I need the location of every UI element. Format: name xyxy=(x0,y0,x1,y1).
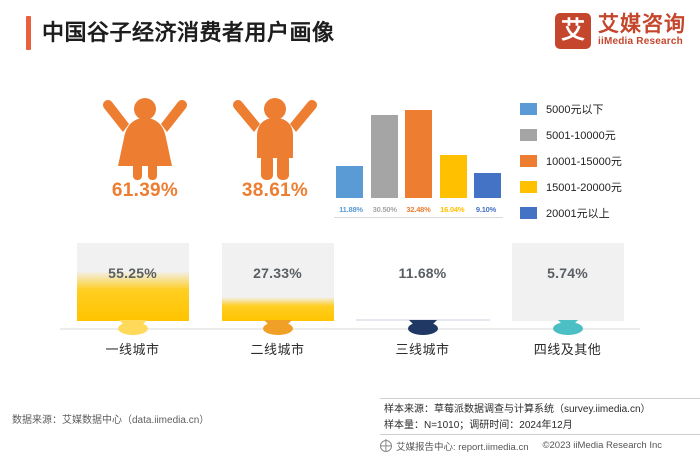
income-bar-value: 11.88% xyxy=(336,205,366,214)
legend-label: 15001-20000元 xyxy=(546,179,622,195)
city-label: 三线城市 xyxy=(350,339,495,358)
legend-swatch xyxy=(520,155,537,167)
female-percentage: 61.39% xyxy=(85,180,205,202)
income-bar-column xyxy=(405,110,432,198)
income-bar-value: 32.48% xyxy=(404,205,434,214)
legend-swatch xyxy=(520,129,537,141)
footer-sample-info: 样本来源：草莓派数据调查与计算系统（survey.iimedia.cn） 样本量… xyxy=(384,402,651,434)
footer-report-center: 艾媒报告中心: report.iimedia.cn xyxy=(396,439,529,453)
city-beaker xyxy=(222,243,334,321)
legend-label: 10001-15000元 xyxy=(546,153,622,169)
header: 中国谷子经济消费者用户画像 艾 艾媒咨询 iiMedia Research xyxy=(0,0,700,66)
legend-swatch xyxy=(520,181,537,193)
legend-swatch xyxy=(520,103,537,115)
city-label: 二线城市 xyxy=(205,339,350,358)
income-bars xyxy=(336,110,501,198)
legend-item: 10001-15000元 xyxy=(520,148,690,174)
income-legend: 5000元以下 5001-10000元 10001-15000元 15001-2… xyxy=(520,96,690,226)
city-drop-icon xyxy=(553,322,583,335)
income-bar-chart: 11.88% 30.50% 32.48% 16.04% 9.10% xyxy=(336,100,501,218)
income-bar-value: 30.50% xyxy=(370,205,400,214)
city-drop-icon xyxy=(263,322,293,335)
city-tier-chart: 55.25% 一线城市 27.33% 二线城市 11.68% 三线城市 5.74… xyxy=(60,243,640,358)
female-figure-icon xyxy=(85,92,205,180)
city-percentage: 5.74% xyxy=(495,265,640,281)
footer-copyright: ©2023 iiMedia Research Inc xyxy=(543,440,662,451)
income-bar xyxy=(440,155,467,198)
income-bar-column xyxy=(474,110,501,198)
city-item: 27.33% 二线城市 xyxy=(205,243,350,358)
income-bar-column xyxy=(371,110,398,198)
page-title: 中国谷子经济消费者用户画像 xyxy=(42,16,335,50)
logo-name-cn: 艾媒咨询 xyxy=(598,14,686,36)
legend-swatch xyxy=(520,207,537,219)
income-bar xyxy=(371,115,398,198)
logo-name-en: iiMedia Research xyxy=(598,36,686,48)
gender-distribution-chart: 61.39% 38.61% xyxy=(60,92,330,222)
city-percentage: 55.25% xyxy=(60,265,205,281)
footer-report-bar: 艾媒报告中心: report.iimedia.cn ©2023 iiMedia … xyxy=(380,434,700,456)
legend-item: 15001-20000元 xyxy=(520,174,690,200)
footer-data-source: 数据来源：艾媒数据中心（data.iimedia.cn） xyxy=(12,411,209,426)
legend-label: 20001元以上 xyxy=(546,205,610,221)
city-drop-icon xyxy=(408,322,438,335)
footer-sample-source: 样本来源：草莓派数据调查与计算系统（survey.iimedia.cn） xyxy=(384,402,651,418)
logo-mark-icon: 艾 xyxy=(555,13,591,49)
legend-item: 5001-10000元 xyxy=(520,122,690,148)
footer-divider xyxy=(380,398,700,399)
male-figure-icon xyxy=(215,92,335,180)
income-bar xyxy=(474,173,501,198)
city-label: 四线及其他 xyxy=(495,339,640,358)
legend-label: 5000元以下 xyxy=(546,101,603,117)
city-percentage: 27.33% xyxy=(205,265,350,281)
city-beaker-fill xyxy=(222,297,334,322)
legend-label: 5001-10000元 xyxy=(546,127,616,143)
income-bar xyxy=(405,110,432,198)
income-bar-column xyxy=(440,110,467,198)
income-bar xyxy=(336,166,363,198)
footer-sample-size: 样本量：N=1010；调研时间：2024年12月 xyxy=(384,418,651,434)
legend-item: 20001元以上 xyxy=(520,200,690,226)
city-item: 11.68% 三线城市 xyxy=(350,243,495,358)
city-beaker xyxy=(512,243,624,321)
city-item: 5.74% 四线及其他 xyxy=(495,243,640,358)
male-percentage: 38.61% xyxy=(215,180,335,202)
title-accent-bar xyxy=(26,16,31,50)
legend-item: 5000元以下 xyxy=(520,96,690,122)
brand-logo: 艾 艾媒咨询 iiMedia Research xyxy=(555,13,686,49)
chart-baseline xyxy=(334,217,503,218)
gender-item-male: 38.61% xyxy=(215,92,335,202)
globe-icon xyxy=(380,440,392,452)
income-bar-value: 16.04% xyxy=(437,205,467,214)
income-bar-labels: 11.88% 30.50% 32.48% 16.04% 9.10% xyxy=(336,205,501,214)
city-item: 55.25% 一线城市 xyxy=(60,243,205,358)
city-label: 一线城市 xyxy=(60,339,205,358)
city-drop-icon xyxy=(118,322,148,335)
city-beaker xyxy=(77,243,189,321)
gender-item-female: 61.39% xyxy=(85,92,205,202)
city-percentage: 11.68% xyxy=(350,265,495,281)
income-bar-value: 9.10% xyxy=(471,205,501,214)
income-bar-column xyxy=(336,110,363,198)
logo-text: 艾媒咨询 iiMedia Research xyxy=(598,14,686,48)
